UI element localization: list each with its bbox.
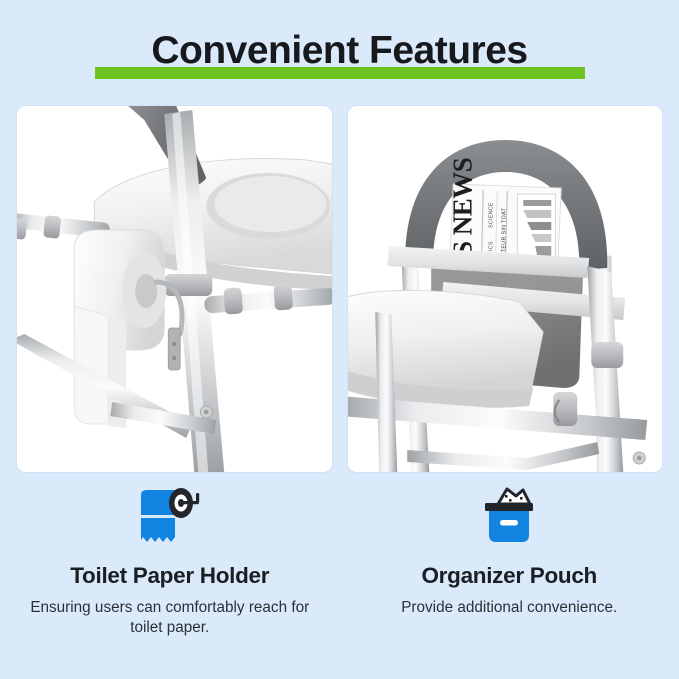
svg-text:S NEWS: S NEWS <box>447 158 477 256</box>
feature-toilet-paper-holder: Toilet Paper Holder Ensuring users can c… <box>0 480 340 679</box>
feature-title: Organizer Pouch <box>421 564 597 589</box>
svg-text:SCIENCE: SCIENCE <box>488 202 494 228</box>
organizer-basket-icon <box>476 484 542 552</box>
feature-description: Provide additional convenience. <box>401 598 617 618</box>
page-title: Convenient Features <box>145 31 533 74</box>
feature-description: Ensuring users can comfortably reach for… <box>25 598 315 638</box>
toilet-paper-roll-icon <box>137 484 203 552</box>
photo-card-organizer-pouch[interactable]: S NEWS POLITICS SCIENCE EXCEPTEUR SIN TO… <box>347 105 664 473</box>
photo-card-toilet-paper-holder[interactable] <box>16 105 333 473</box>
page-header: Convenient Features <box>0 0 679 104</box>
feature-title: Toilet Paper Holder <box>70 564 269 589</box>
organizer-pouch-photo: S NEWS POLITICS SCIENCE EXCEPTEUR SIN TO… <box>348 106 663 472</box>
feature-organizer-pouch: Organizer Pouch Provide additional conve… <box>340 480 679 679</box>
photo-card-row: S NEWS POLITICS SCIENCE EXCEPTEUR SIN TO… <box>16 105 663 473</box>
toilet-paper-holder-photo <box>17 106 332 472</box>
feature-row: Toilet Paper Holder Ensuring users can c… <box>0 480 679 679</box>
